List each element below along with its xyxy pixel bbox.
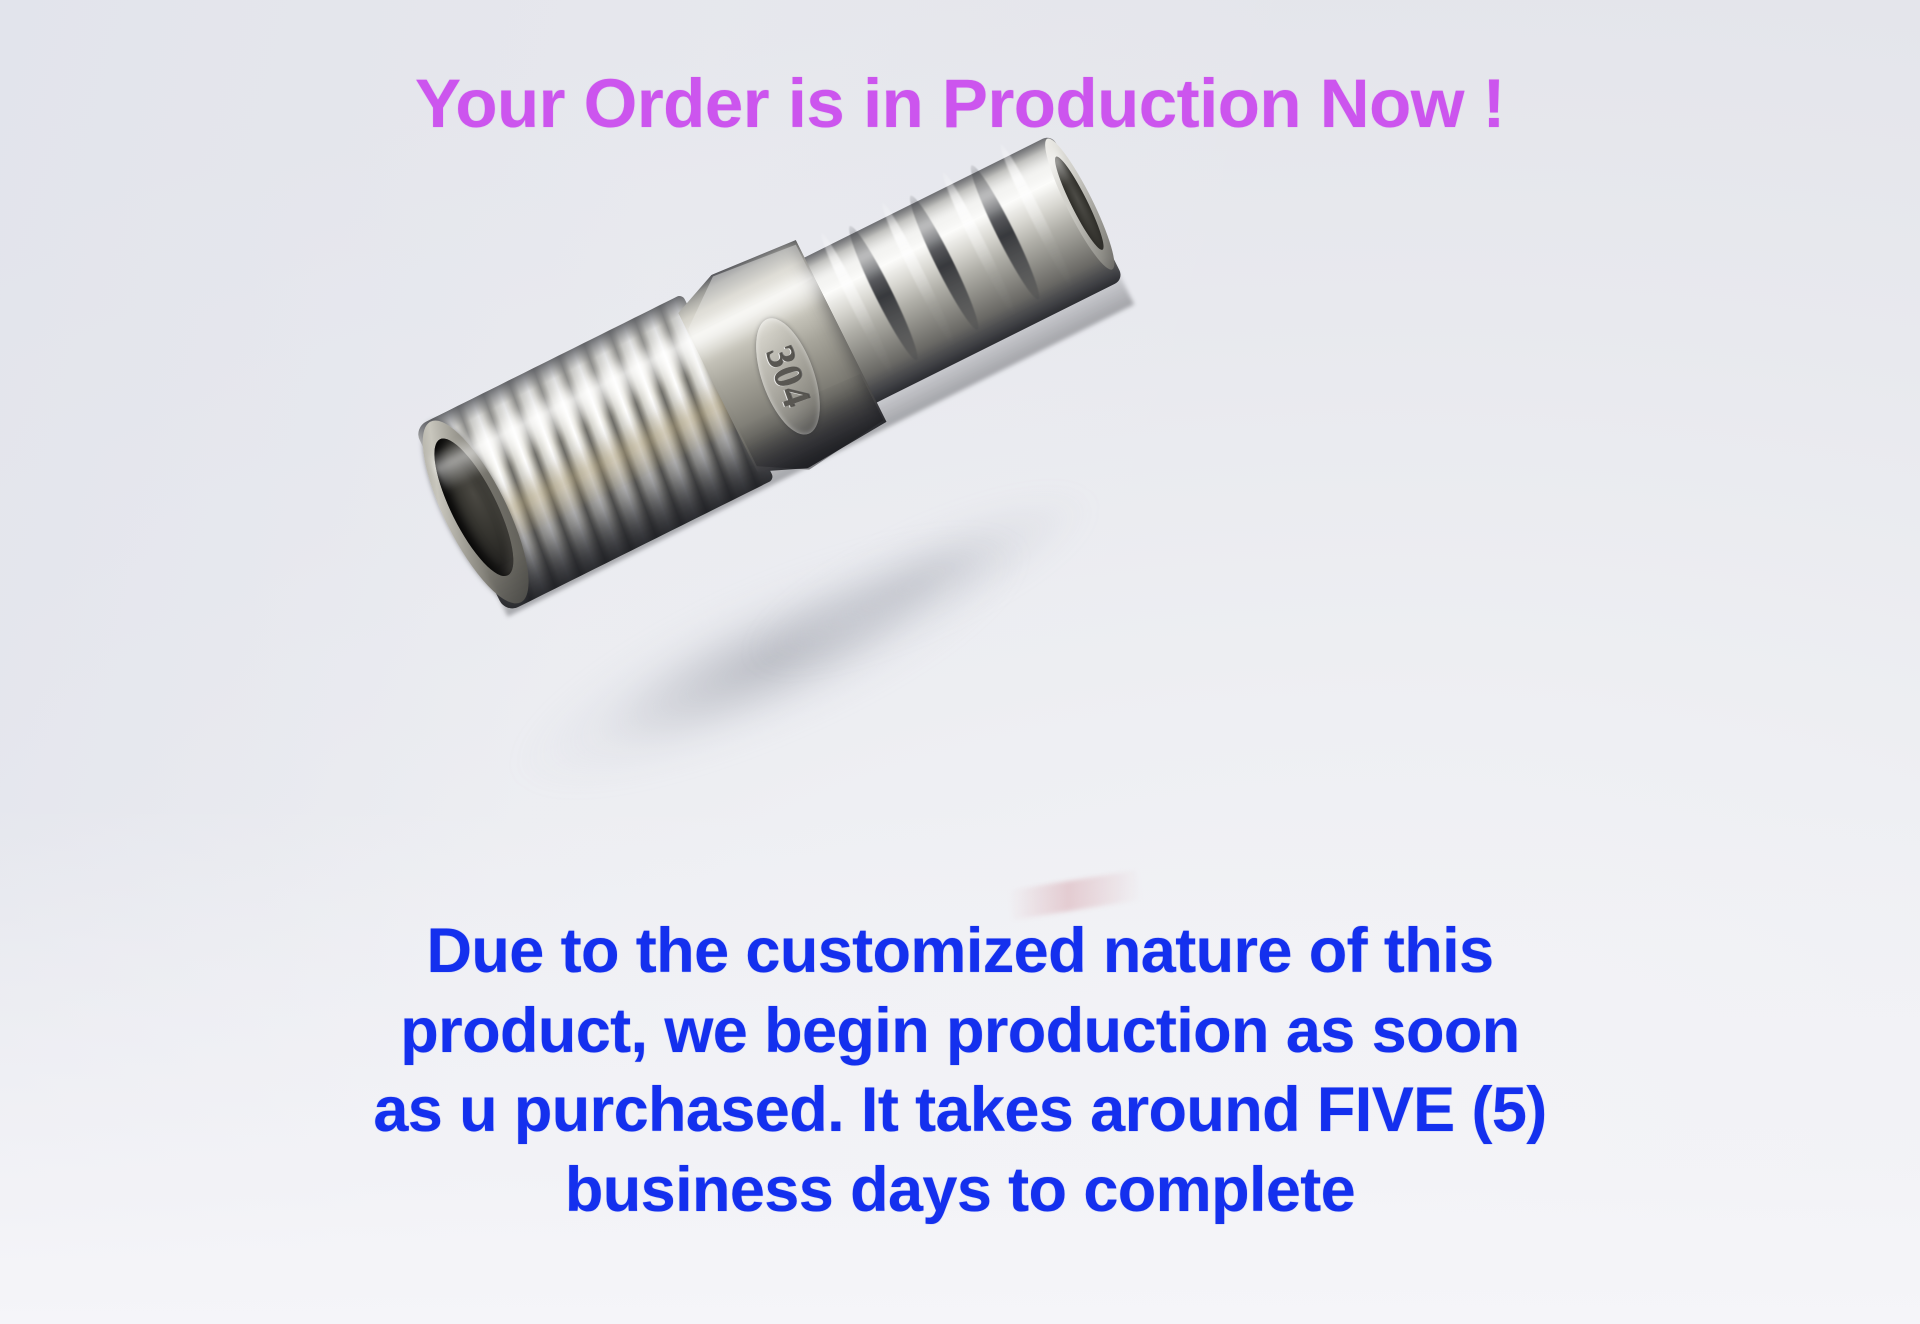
- notice-line: business days to complete: [0, 1151, 1920, 1231]
- notice-line: Due to the customized nature of this: [0, 912, 1920, 992]
- production-notice-text: Due to the customized nature of this pro…: [0, 912, 1920, 1231]
- product-notice-poster: Your Order is in Production Now ! 304: [0, 0, 1920, 1324]
- notice-line: product, we begin production as soon: [0, 992, 1920, 1072]
- product-photo: 304: [430, 285, 1190, 755]
- material-stamp-label: 304: [755, 339, 820, 414]
- page-title: Your Order is in Production Now !: [0, 68, 1920, 140]
- notice-line: as u purchased. It takes around FIVE (5): [0, 1071, 1920, 1151]
